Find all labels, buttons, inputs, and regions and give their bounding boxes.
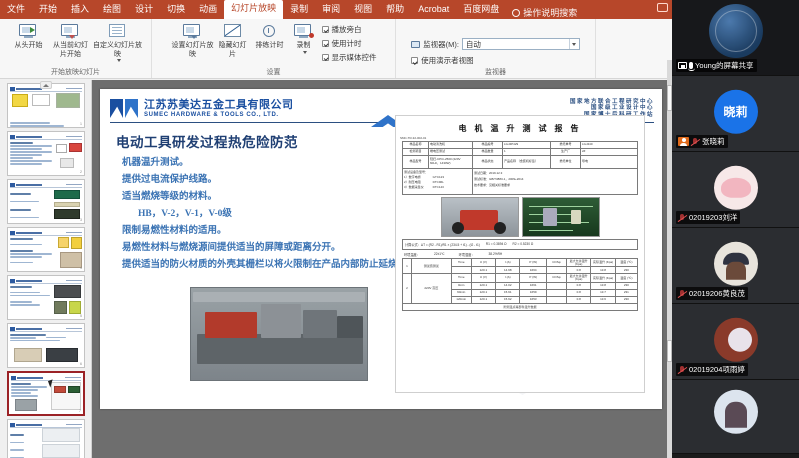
col-cos: COSφ bbox=[547, 259, 567, 267]
col-time: Time bbox=[451, 274, 471, 282]
ribbon-tab-bar: 文件 开始 插入 绘图 设计 切换 动画 幻灯片放映 录制 审阅 视图 帮助 A… bbox=[0, 0, 672, 19]
cell: 0.8 bbox=[566, 289, 590, 296]
thumb-number: 3 bbox=[80, 218, 82, 222]
bullet-1: 机器温升测试。 bbox=[122, 155, 442, 172]
cell: 检测项目 bbox=[403, 149, 429, 156]
report-info-table: 样品名称 电动清洗机 样品编号 LGJ4P429 委托单号 LGJ440 检测项… bbox=[402, 141, 638, 195]
mic-muted-icon bbox=[678, 214, 687, 222]
setup-checkbox-list: 播放旁白 使用计时 显示媒体控件 bbox=[319, 21, 377, 65]
tab-slideshow[interactable]: 幻灯片放映 bbox=[224, 0, 283, 19]
bullet-5: 限制易燃性材料的适用。 bbox=[122, 223, 442, 240]
cell: 1653 bbox=[520, 296, 547, 303]
mic-muted-icon bbox=[691, 138, 700, 146]
setup-slideshow-label: 设置幻灯片放映 bbox=[172, 42, 214, 59]
equipment-cell: 测试设备及型号： 1）数字电桥 GTC123 2）耐压电阻 DTC96L 3）数… bbox=[403, 169, 473, 195]
report-code: SMC-TR-32-002-01 bbox=[396, 136, 644, 140]
participant-name: 02019203刘洋 bbox=[689, 212, 737, 223]
video-conference-panel[interactable]: Young的屏幕共享 晓莉 张晓莉 02019203刘洋 02019206黄良茂 bbox=[672, 0, 799, 458]
hide-slide-button[interactable]: 隐藏幻灯片 bbox=[215, 21, 251, 59]
logo-icon bbox=[10, 279, 15, 283]
monitor-select-row: 监视器(M): 自动 bbox=[411, 38, 580, 50]
person-icon bbox=[678, 137, 689, 146]
record-icon bbox=[293, 22, 315, 41]
current-slide[interactable]: 江苏苏美达五金工具有限公司 SUMEC HARDWARE & TOOLS CO.… bbox=[100, 89, 662, 409]
col-actual-rise: 实际温升 (Kpa) bbox=[591, 274, 615, 282]
checkbox-label: 使用演示者视图 bbox=[421, 55, 474, 66]
cell: 15.92 bbox=[496, 296, 520, 303]
slide-editing-area[interactable]: 江苏苏美达五金工具有限公司 SUMEC HARDWARE & TOOLS CO.… bbox=[92, 80, 670, 458]
cell: 0min bbox=[451, 282, 471, 289]
cell: 0.8 bbox=[566, 296, 590, 303]
participant-name: 02019204项雨婷 bbox=[689, 364, 745, 375]
cell: 120.1 bbox=[471, 296, 495, 303]
cell: 230 bbox=[615, 282, 637, 289]
participant-name-badge: 02019204项雨婷 bbox=[676, 363, 748, 376]
checkbox-label: 播放旁白 bbox=[332, 24, 362, 35]
cell: LGJ4P429 bbox=[503, 142, 551, 149]
custom-show-icon bbox=[107, 22, 129, 41]
tab-acrobat[interactable]: Acrobat bbox=[411, 1, 456, 19]
tell-me-search[interactable]: 操作说明搜索 bbox=[506, 6, 577, 19]
table-row: 样品名称 电动清洗机 样品编号 LGJ4P429 委托单号 LGJ440 bbox=[403, 142, 638, 149]
rehearse-timing-button[interactable]: 排练计时 bbox=[251, 21, 289, 51]
participant-name: 张晓莉 bbox=[702, 136, 725, 147]
list-item[interactable]: 4 bbox=[7, 227, 85, 272]
slide-title[interactable]: 电动工具研发过程热危险防范 bbox=[116, 131, 298, 151]
video-tile-participant[interactable]: 02019203刘洋 bbox=[672, 152, 799, 228]
cell: 0.8 bbox=[566, 267, 590, 274]
custom-slideshow-label: 自定义幻灯片放映 bbox=[93, 42, 143, 59]
report-photo-pcb bbox=[522, 197, 600, 237]
chevron-down-icon[interactable] bbox=[569, 39, 579, 49]
cell: LGJ440 bbox=[581, 142, 638, 149]
cell: 1664 bbox=[520, 267, 547, 274]
cell bbox=[451, 267, 471, 274]
monitor-select[interactable]: 自动 bbox=[462, 38, 580, 50]
tab-insert[interactable]: 插入 bbox=[64, 1, 96, 19]
avatar bbox=[714, 241, 758, 285]
group-label-monitor: 监视器 bbox=[396, 67, 595, 77]
col-max-rise: 最大允许温升 (Kpa) bbox=[566, 259, 590, 267]
record-label: 录制 bbox=[297, 42, 311, 51]
avatar: 晓莉 bbox=[714, 89, 758, 133]
col-temp: 温度 (℃) bbox=[615, 274, 637, 282]
avatar-initials: 晓莉 bbox=[723, 103, 747, 120]
env-temp-label: 环境温度： bbox=[404, 252, 420, 257]
cell bbox=[547, 296, 567, 303]
cell: 产品名称 （含装机标签） bbox=[503, 156, 551, 169]
cell: 15.91 bbox=[496, 289, 520, 296]
video-tile-screen-share[interactable]: Young的屏幕共享 bbox=[672, 0, 799, 76]
from-beginning-button[interactable]: 从头开始 bbox=[8, 21, 50, 51]
cell: 120.1 bbox=[471, 282, 495, 289]
company-name-cn: 江苏苏美达五金工具有限公司 bbox=[144, 99, 294, 111]
row-index: 2 bbox=[403, 274, 412, 303]
bullet-6: 易燃性材料与燃烧源间提供适当的屏障或距离分开。 bbox=[122, 240, 442, 257]
video-tile-participant[interactable]: 晓莉 张晓莉 bbox=[672, 76, 799, 152]
report-note: 附测温点等部件温升数据 bbox=[402, 304, 638, 311]
checkbox-box[interactable] bbox=[322, 40, 329, 47]
cell: 2# bbox=[581, 149, 638, 156]
shared-screen-preview bbox=[709, 4, 763, 58]
cell bbox=[547, 282, 567, 289]
logo-icon bbox=[10, 423, 15, 427]
cell: 231 bbox=[615, 289, 637, 296]
cell: 电动清洗机 bbox=[429, 142, 473, 149]
cell: 13.7 bbox=[591, 289, 615, 296]
video-tile-participant[interactable] bbox=[672, 380, 799, 454]
thumb-number: 1 bbox=[80, 122, 82, 126]
formula-r1: R1 = 0.3894 Ω bbox=[486, 242, 507, 247]
ribbon-content: 从头开始 从当前幻灯片开始 自定义幻灯片放映 开始放映幻灯片 bbox=[0, 19, 672, 79]
cell: 230 bbox=[615, 296, 637, 303]
lightbulb-icon bbox=[512, 9, 520, 17]
setup-show-icon bbox=[182, 22, 204, 41]
col-current: I (A) bbox=[496, 274, 520, 282]
checkbox-box[interactable] bbox=[322, 54, 329, 61]
tab-review[interactable]: 审阅 bbox=[315, 1, 347, 19]
thumb-number: 2 bbox=[80, 170, 82, 174]
col-actual-rise: 实际温升 (Kpa) bbox=[591, 259, 615, 267]
rehearse-timing-icon bbox=[259, 22, 281, 41]
participant-name: 02019206黄良茂 bbox=[689, 288, 745, 299]
col-power: P (W) bbox=[520, 259, 547, 267]
participant-name-badge: 02019206黄良茂 bbox=[676, 287, 748, 300]
cell: 样品数量 bbox=[473, 149, 503, 156]
record-button[interactable]: 录制 bbox=[289, 21, 319, 54]
thumb-number: 4 bbox=[80, 266, 82, 270]
logo-icon bbox=[10, 183, 15, 187]
report-photo-row bbox=[396, 197, 644, 237]
participant-name: Young的屏幕共享 bbox=[695, 60, 754, 71]
equipment-3: 3）数据采集仪 DTC143 bbox=[404, 185, 471, 190]
cell: 1 bbox=[503, 149, 551, 156]
report-title: 电 机 温 升 测 试 报 告 bbox=[396, 123, 644, 134]
col-cos: COSφ bbox=[547, 274, 567, 282]
report-measurement-table: 1 测试值测试 Time U (V) I (A) P (W) COSφ 最大允许… bbox=[402, 258, 638, 304]
checkbox-use-timings[interactable]: 使用计时 bbox=[322, 38, 377, 49]
setup-slideshow-button[interactable]: 设置幻灯片放映 bbox=[171, 21, 215, 59]
cell: 端电压测试 bbox=[429, 149, 473, 156]
cell: 样品名称 bbox=[403, 142, 429, 149]
checkbox-play-narration[interactable]: 播放旁白 bbox=[322, 24, 377, 35]
tab-draw[interactable]: 绘图 bbox=[96, 1, 128, 19]
meta-3: 技术要求：见相关标准要求 bbox=[474, 182, 636, 188]
list-item[interactable]: 1 bbox=[7, 83, 85, 128]
report-formula: 计算公式：ΔT = (R2 - R1)/R1 × (234.5 + t1) - … bbox=[402, 239, 638, 250]
company-name-en: SUMEC HARDWARE & TOOLS CO., LTD. bbox=[144, 112, 294, 118]
monitor-play-icon bbox=[18, 22, 40, 41]
tab-design[interactable]: 设计 bbox=[128, 1, 160, 19]
list-item[interactable]: 3 bbox=[7, 179, 85, 224]
monitor-select-value: 自动 bbox=[466, 39, 481, 50]
table-row: 测试设备及型号： 1）数字电桥 GTC123 2）耐压电阻 DTC96L 3）数… bbox=[403, 169, 638, 195]
col-time: Time bbox=[451, 259, 471, 267]
logo-icon bbox=[10, 231, 15, 235]
slide-bullet-list[interactable]: 机器温升测试。 提供过电流保护线路。 适当燃烧等级的材料。 HB，V-2，V-1… bbox=[122, 155, 442, 274]
mic-muted-icon bbox=[678, 366, 687, 374]
tab-home[interactable]: 开始 bbox=[32, 1, 64, 19]
cell: 13.8 bbox=[591, 267, 615, 274]
rehearse-timing-label: 排练计时 bbox=[256, 42, 284, 51]
from-current-slide-label: 从当前幻灯片开始 bbox=[51, 42, 91, 59]
col-voltage: U (V) bbox=[471, 259, 495, 267]
tab-baidu-netdisk[interactable]: 百度网盘 bbox=[456, 1, 506, 19]
from-beginning-label: 从头开始 bbox=[15, 42, 43, 51]
block-name: 测试值测试 bbox=[411, 259, 451, 274]
thumb-number: 5 bbox=[80, 314, 82, 318]
checkbox-label: 使用计时 bbox=[332, 38, 362, 49]
col-temp: 温度 (℃) bbox=[615, 259, 637, 267]
avatar bbox=[714, 317, 758, 361]
logo-icon bbox=[10, 327, 15, 331]
cell: 120.1 bbox=[471, 289, 495, 296]
chevron-down-icon[interactable] bbox=[117, 59, 121, 62]
list-item-selected[interactable]: 7 bbox=[7, 371, 85, 416]
comment-icon[interactable] bbox=[657, 3, 668, 12]
mic-icon bbox=[689, 62, 693, 69]
motor-temperature-rise-report[interactable]: 电 机 温 升 测 试 报 告 SMC-TR-32-002-01 样品名称 电动… bbox=[395, 115, 645, 393]
group-monitor: 监视器(M): 自动 使用演示者视图 监视器 bbox=[396, 19, 596, 78]
hide-slide-label: 隐藏幻灯片 bbox=[216, 42, 250, 59]
monitor-icon bbox=[411, 41, 420, 48]
cell: 生产厂 bbox=[551, 149, 581, 156]
cell: 1661 bbox=[520, 282, 547, 289]
cell: 230 bbox=[615, 267, 637, 274]
logo-icon bbox=[10, 87, 15, 91]
list-item[interactable]: 8 bbox=[7, 419, 85, 458]
cell: 样品型号 bbox=[403, 156, 429, 169]
checkbox-box[interactable] bbox=[411, 57, 418, 64]
avatar bbox=[714, 389, 758, 433]
logo-icon bbox=[11, 376, 16, 380]
video-tile-participant[interactable]: 02019206黄良茂 bbox=[672, 228, 799, 304]
cell: 60min bbox=[451, 289, 471, 296]
meta-cell: 测试日期：2019.12.3 测试标准：GB/T3883-1，2009+2014… bbox=[473, 169, 638, 195]
tab-transitions[interactable]: 切换 bbox=[160, 1, 192, 19]
list-item[interactable]: 5 bbox=[7, 275, 85, 320]
list-item[interactable]: 6 bbox=[7, 323, 85, 368]
participant-name-badge: 张晓莉 bbox=[676, 135, 728, 148]
formula-expression: 计算公式：ΔT = (R2 - R1)/R1 × (234.5 + t1) - … bbox=[405, 242, 480, 247]
group-label-start-slideshow: 开始放映幻灯片 bbox=[0, 67, 151, 77]
logo-icon bbox=[10, 135, 15, 139]
cell: 导电 bbox=[581, 156, 638, 169]
mic-muted-icon bbox=[678, 290, 687, 298]
checkbox-box[interactable] bbox=[322, 26, 329, 33]
bullet-3: 适当燃烧等级的材料。 bbox=[122, 189, 442, 206]
col-current: I (A) bbox=[496, 259, 520, 267]
monitor-current-icon bbox=[60, 22, 82, 41]
group-start-slideshow: 从头开始 从当前幻灯片开始 自定义幻灯片放映 开始放映幻灯片 bbox=[0, 19, 152, 78]
thumb-number: 6 bbox=[80, 362, 82, 366]
slide-thumbnail-panel[interactable]: 1 2 3 bbox=[0, 80, 92, 458]
cell: 委托单号 bbox=[551, 142, 581, 149]
block-name: 220V 高压 bbox=[411, 274, 451, 303]
custom-slideshow-button[interactable]: 自定义幻灯片放映 bbox=[92, 21, 144, 62]
cell: 120min bbox=[451, 296, 471, 303]
from-current-slide-button[interactable]: 从当前幻灯片开始 bbox=[50, 21, 92, 59]
cell: 13.8 bbox=[591, 282, 615, 289]
col-voltage: U (V) bbox=[471, 274, 495, 282]
sumec-logo-icon bbox=[110, 99, 138, 118]
table-header-row: 2 220V 高压 Time U (V) I (A) P (W) COSφ 最大… bbox=[403, 274, 638, 282]
cell: 样品状态 bbox=[473, 156, 503, 169]
tab-animations[interactable]: 动画 bbox=[192, 1, 224, 19]
slide-machine-photo[interactable] bbox=[190, 287, 368, 381]
monitor-select-label: 监视器(M): bbox=[423, 39, 459, 50]
tab-help[interactable]: 帮助 bbox=[379, 1, 411, 19]
cell bbox=[547, 289, 567, 296]
table-header-row: 1 测试值测试 Time U (V) I (A) P (W) COSφ 最大允许… bbox=[403, 259, 638, 267]
cell: 0.8 bbox=[566, 282, 590, 289]
table-row: 样品型号 轻扫-CPCi-2500 (220V 60Hz，1430W) 样品状态… bbox=[403, 156, 638, 169]
col-power: P (W) bbox=[520, 274, 547, 282]
group-label-setup: 设置 bbox=[152, 67, 395, 77]
bullet-2: 提供过电流保护线路。 bbox=[122, 172, 442, 189]
group-setup: 设置幻灯片放映 隐藏幻灯片 排练计时 录制 播放旁白 bbox=[152, 19, 396, 78]
bullet-4: HB，V-2，V-1，V-0级 bbox=[122, 206, 442, 223]
env-temp-value: 22±1℃ bbox=[434, 252, 445, 257]
formula-r2: R2 = 0.5230 Ω bbox=[513, 242, 534, 247]
tab-view[interactable]: 视图 bbox=[347, 1, 379, 19]
cell: 14.98 bbox=[496, 267, 520, 274]
bullet-7: 提供适当的防火材质的外壳其栅栏以将火限制在产品内部防止延烧到外部。 bbox=[122, 257, 442, 274]
env-humidity-value: 38.2%RH bbox=[489, 252, 503, 257]
thumbnail-scroll-up-button[interactable] bbox=[40, 81, 52, 89]
participant-name-badge: Young的屏幕共享 bbox=[676, 59, 757, 72]
cell: 轻扫-CPCi-2500 (220V 60Hz，1430W) bbox=[429, 156, 473, 169]
checkbox-presenter-view[interactable]: 使用演示者视图 bbox=[411, 55, 474, 66]
checkbox-show-media-controls[interactable]: 显示媒体控件 bbox=[322, 52, 377, 63]
avatar bbox=[714, 165, 758, 209]
cell: 13.6 bbox=[591, 296, 615, 303]
report-photo-product bbox=[441, 197, 519, 237]
hide-slide-icon bbox=[222, 22, 244, 41]
tab-record[interactable]: 录制 bbox=[283, 1, 315, 19]
video-tile-participant[interactable]: 02019204项雨婷 bbox=[672, 304, 799, 380]
cell: 委托单位 bbox=[551, 156, 581, 169]
col-max-rise: 最大允许温升 (Kpa) bbox=[566, 274, 590, 282]
env-humidity-label: 环境湿度： bbox=[459, 252, 475, 257]
table-row: 检测项目 端电压测试 样品数量 1 生产厂 2# bbox=[403, 149, 638, 156]
report-environment-row: 环境温度： 22±1℃ 环境湿度： 38.2%RH bbox=[402, 252, 638, 257]
checkbox-label: 显示媒体控件 bbox=[332, 52, 377, 63]
tab-file[interactable]: 文件 bbox=[0, 1, 32, 19]
participant-name-badge: 02019203刘洋 bbox=[676, 211, 740, 224]
cell: 120.1 bbox=[471, 267, 495, 274]
cell bbox=[547, 267, 567, 274]
cell: 1659 bbox=[520, 289, 547, 296]
thumb-number: 7 bbox=[79, 409, 81, 413]
tell-me-placeholder: 操作说明搜索 bbox=[523, 6, 577, 19]
share-icon bbox=[678, 62, 687, 69]
chevron-down-icon[interactable] bbox=[303, 51, 307, 54]
row-index: 1 bbox=[403, 259, 412, 274]
cell: 样品编号 bbox=[473, 142, 503, 149]
cell: 14.02 bbox=[496, 282, 520, 289]
list-item[interactable]: 2 bbox=[7, 131, 85, 176]
